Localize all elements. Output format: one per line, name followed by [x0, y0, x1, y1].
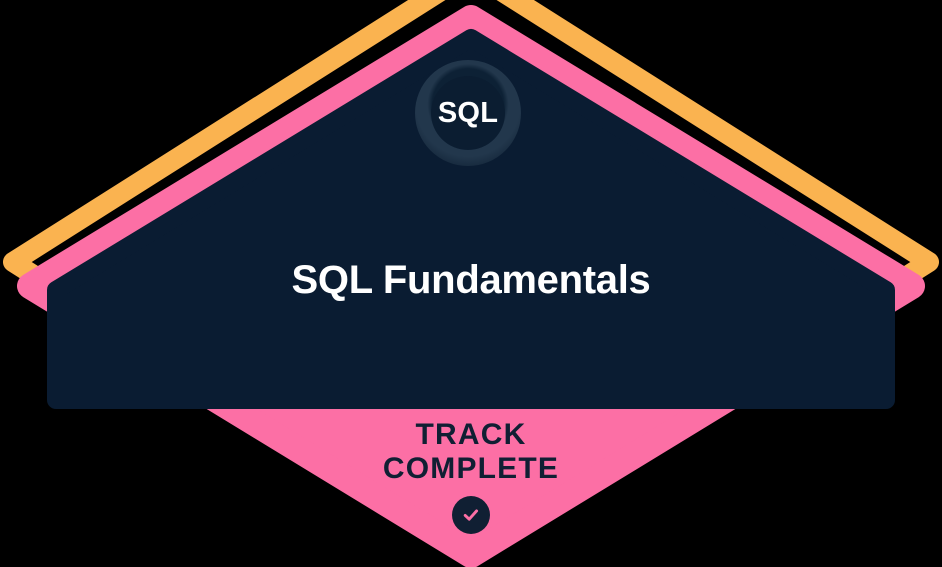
status-line-track: TRACK — [0, 418, 942, 452]
status-check-badge — [452, 496, 490, 534]
check-icon — [461, 505, 481, 525]
track-status: TRACK COMPLETE — [0, 418, 942, 534]
sql-track-icon: SQL — [415, 60, 521, 166]
sql-track-icon-inner: SQL — [431, 76, 505, 150]
track-completion-badge: SQL SQL Fundamentals TRACK COMPLETE — [0, 0, 942, 567]
track-title: SQL Fundamentals — [0, 257, 942, 303]
sql-track-icon-label: SQL — [438, 99, 498, 128]
status-line-complete: COMPLETE — [0, 452, 942, 486]
